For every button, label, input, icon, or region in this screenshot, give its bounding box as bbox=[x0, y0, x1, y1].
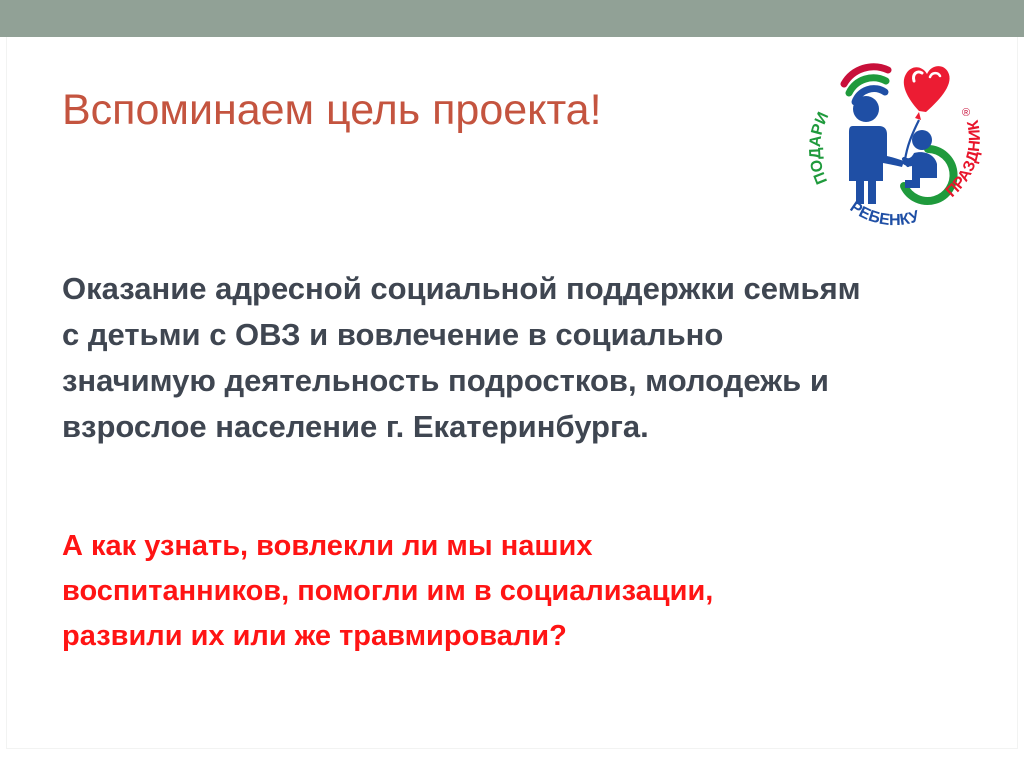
question-line: А как узнать, вовлекли ли мы наших bbox=[62, 524, 982, 569]
slide-title: Вспоминаем цель проекта! bbox=[62, 88, 762, 133]
frame-line-left bbox=[6, 37, 7, 749]
logo-text-rebenku: РЕБЕНКУ bbox=[847, 199, 923, 230]
registered-trademark-symbol: ® bbox=[962, 107, 970, 119]
question-line: воспитанников, помогли им в социализации… bbox=[62, 569, 982, 614]
body-line: Оказание адресной социальной поддержки с… bbox=[62, 266, 982, 312]
podari-rebenku-prazdnik-logo: ® ПОДАРИ РЕБЕНКУ bbox=[808, 36, 988, 236]
body-line: взрослое население г. Екатеринбурга. bbox=[62, 404, 982, 450]
body-paragraph: Оказание адресной социальной поддержки с… bbox=[62, 266, 982, 450]
child-figure-icon bbox=[902, 130, 937, 188]
top-decorative-band bbox=[0, 0, 1024, 37]
body-line: с детьми с ОВЗ и вовлечение в социально bbox=[62, 312, 982, 358]
body-line: значимую деятельность подростков, молоде… bbox=[62, 358, 982, 404]
question-line: развили их или же травмировали? bbox=[62, 614, 982, 659]
logo-text-podari: ПОДАРИ bbox=[808, 110, 832, 187]
frame-line-bottom bbox=[6, 748, 1018, 749]
adult-figure-icon bbox=[849, 96, 904, 204]
frame-line-right bbox=[1017, 37, 1018, 749]
question-paragraph: А как узнать, вовлекли ли мы наших воспи… bbox=[62, 524, 982, 659]
slide: Вспоминаем цель проекта! Оказание адресн… bbox=[0, 0, 1024, 767]
